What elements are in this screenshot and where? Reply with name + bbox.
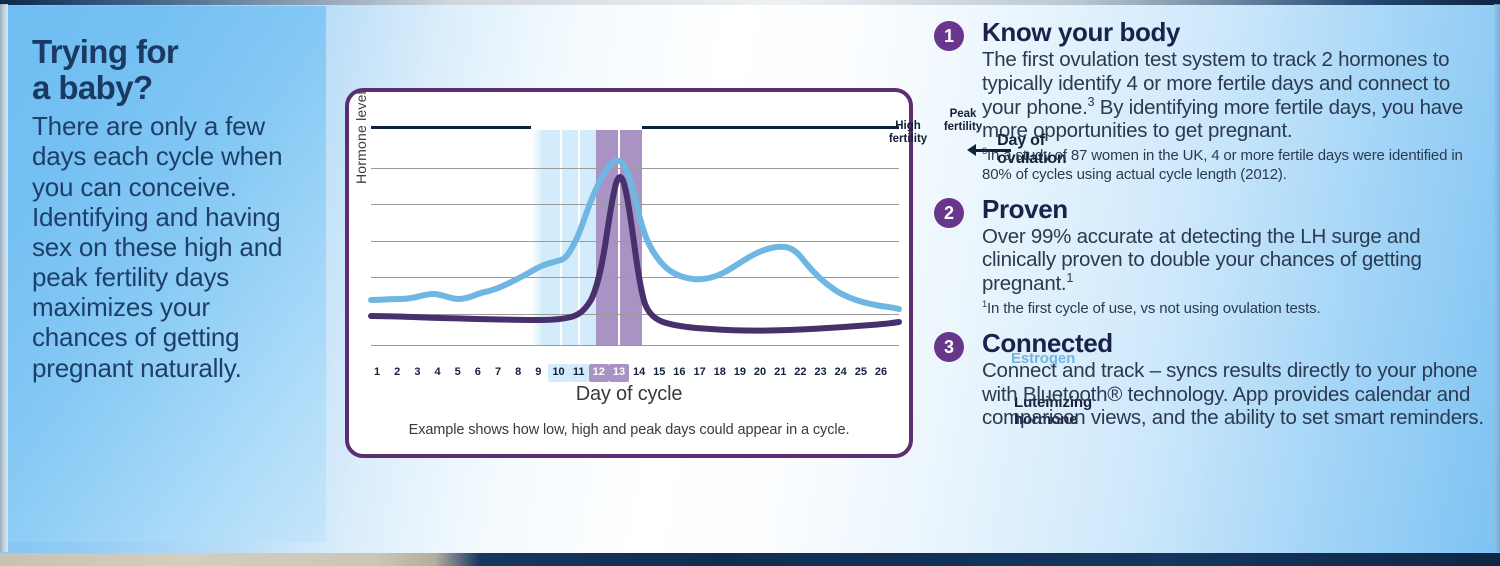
feature-body-1: The first ovulation test system to track… [982, 48, 1494, 143]
x-axis-tick-day-8: 8 [508, 364, 528, 382]
x-axis-tick-day-21: 21 [770, 364, 790, 382]
headline-line-1: Trying for [32, 33, 178, 70]
x-axis-tick-day-1: 1 [367, 364, 387, 382]
feature-footnote-2: 1In the first cycle of use, vs not using… [982, 300, 1494, 319]
badge-number-3: 3 [934, 332, 964, 362]
x-axis-tick-day-2: 2 [387, 364, 407, 382]
x-axis-tick-day-18: 18 [710, 364, 730, 382]
x-axis-tick-day-9: 9 [528, 364, 548, 382]
feature-footnote-1-text: In a study of 87 women in the UK, 4 or m… [982, 147, 1463, 183]
chart-x-axis-title: Day of cycle [345, 383, 913, 406]
x-axis-tick-day-11: 11 [569, 364, 589, 382]
high-fertility-label-line1: High [877, 120, 939, 133]
page-title: Trying for a baby? [32, 34, 310, 105]
x-axis-tick-day-13: 13 [609, 364, 629, 382]
x-axis-tick-day-7: 7 [488, 364, 508, 382]
x-axis-tick-day-16: 16 [669, 364, 689, 382]
feature-footnote-1: 3In a study of 87 women in the UK, 4 or … [982, 147, 1494, 185]
badge-number-2: 2 [934, 198, 964, 228]
x-axis-tick-day-23: 23 [810, 364, 830, 382]
x-axis-tick-day-20: 20 [750, 364, 770, 382]
feature-body-3: Connect and track – syncs results direct… [982, 359, 1494, 430]
feature-know-your-body: 1 Know your body The first ovulation tes… [934, 18, 1494, 185]
x-axis-tick-day-6: 6 [468, 364, 488, 382]
feature-footnote-2-text: In the first cycle of use, vs not using … [987, 300, 1320, 317]
x-axis-tick-day-15: 15 [649, 364, 669, 382]
x-axis-tick-day-10: 10 [548, 364, 568, 382]
feature-title-1: Know your body [982, 18, 1494, 46]
left-intro-panel: Trying for a baby? There are only a few … [8, 6, 326, 542]
x-axis-tick-day-22: 22 [790, 364, 810, 382]
x-axis-tick-day-25: 25 [851, 364, 871, 382]
bottom-edge-chrome [0, 553, 1500, 566]
features-column: 1 Know your body The first ovulation tes… [934, 18, 1494, 440]
hormone-curves [371, 120, 899, 346]
x-axis-tick-day-26: 26 [871, 364, 891, 382]
chart-plot-area [371, 162, 899, 340]
x-axis-tick-day-24: 24 [831, 364, 851, 382]
x-axis-tick-day-19: 19 [730, 364, 750, 382]
feature-proven: 2 Proven Over 99% accurate at detecting … [934, 195, 1494, 319]
right-edge-chrome [1494, 4, 1500, 552]
high-fertility-label-line2: fertility [877, 133, 939, 146]
headline-line-2: a baby? [32, 70, 310, 106]
x-axis-tick-day-3: 3 [407, 364, 427, 382]
feature-title-3: Connected [982, 329, 1494, 357]
intro-paragraph: There are only a few days each cycle whe… [32, 111, 310, 382]
feature-title-2: Proven [982, 195, 1494, 223]
feature-body-2-sup: 1 [1066, 270, 1073, 285]
x-axis-tick-day-5: 5 [448, 364, 468, 382]
chart-caption: Example shows how low, high and peak day… [345, 422, 913, 438]
x-axis-tick-day-4: 4 [427, 364, 447, 382]
feature-connected: 3 Connected Connect and track – syncs re… [934, 329, 1494, 430]
high-fertility-label: High fertility [877, 120, 939, 146]
x-axis-tick-day-14: 14 [629, 364, 649, 382]
top-edge-chrome [0, 0, 1500, 5]
left-edge-chrome [0, 4, 8, 552]
x-axis-tick-day-17: 17 [690, 364, 710, 382]
feature-body-2-main: Over 99% accurate at detecting the LH su… [982, 225, 1422, 296]
chart-x-axis: 1234567891011121314151617181920212223242… [367, 364, 891, 382]
x-axis-tick-day-12: 12 [589, 364, 609, 382]
infographic-root: Trying for a baby? There are only a few … [0, 0, 1500, 566]
chart-y-axis-title: Hormone level [353, 91, 369, 184]
feature-body-2: Over 99% accurate at detecting the LH su… [982, 225, 1494, 296]
badge-number-1: 1 [934, 21, 964, 51]
